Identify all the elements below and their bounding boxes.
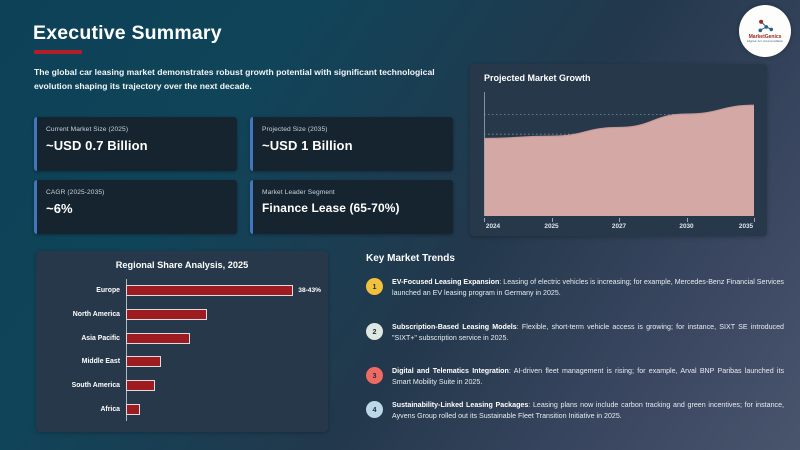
growth-area-plot <box>484 92 754 216</box>
trend-text: Sustainability-Linked Leasing Packages: … <box>392 400 784 422</box>
bar-fill <box>126 333 190 344</box>
trend-heading: EV-Focused Leasing Expansion <box>392 278 499 286</box>
x-axis-label: 2027 <box>612 223 626 230</box>
x-axis-tick <box>484 218 485 222</box>
x-axis-tick <box>754 218 755 222</box>
x-axis-label: 2030 <box>679 223 693 230</box>
bar-fill <box>126 404 140 415</box>
kpi-value: ~USD 1 Billion <box>262 138 353 153</box>
bar-fill <box>126 380 155 391</box>
trends-heading: Key Market Trends <box>366 253 455 264</box>
trend-text: EV-Focused Leasing Expansion: Leasing of… <box>392 277 784 299</box>
bar-category-label: South America <box>48 382 126 389</box>
projected-market-growth-chart: Projected Market Growth 2024202520272030… <box>470 64 767 236</box>
chart-title: Regional Share Analysis, 2025 <box>36 260 328 270</box>
trend-number-badge: 4 <box>366 401 383 418</box>
regional-share-chart: Regional Share Analysis, 2025 Europe38-4… <box>36 251 328 432</box>
trend-text: Digital and Telematics Integration: AI-d… <box>392 366 784 388</box>
kpi-value: Finance Lease (65-70%) <box>262 201 400 215</box>
trend-number-badge: 2 <box>366 323 383 340</box>
kpi-card-projected-size: Projected Size (2035) ~USD 1 Billion <box>250 117 453 171</box>
bar-chart-row: Asia Pacific <box>48 332 316 345</box>
bar-chart-row: North America <box>48 308 316 321</box>
bar-track <box>126 379 316 392</box>
bar-track <box>126 308 316 321</box>
bar-chart-row: South America <box>48 379 316 392</box>
bar-track <box>126 355 316 368</box>
bar-track <box>126 332 316 345</box>
logo-name: MarketGenics <box>749 35 782 40</box>
kpi-card-current-market-size: Current Market Size (2025) ~USD 0.7 Bill… <box>34 117 237 171</box>
bar-chart-rows: Europe38-43%North AmericaAsia PacificMid… <box>48 279 316 421</box>
bar-fill <box>126 285 293 296</box>
kpi-label: CAGR (2025-2035) <box>46 189 104 196</box>
kpi-label: Current Market Size (2025) <box>46 126 128 133</box>
trend-heading: Sustainability-Linked Leasing Packages <box>392 401 528 409</box>
bar-chart-row: Europe38-43% <box>48 284 316 297</box>
kpi-label: Projected Size (2035) <box>262 126 328 133</box>
bar-fill <box>126 309 207 320</box>
title-underline-accent <box>34 50 82 54</box>
kpi-label: Market Leader Segment <box>262 189 335 196</box>
page-title: Executive Summary <box>33 22 222 45</box>
bar-fill <box>126 356 161 367</box>
trend-heading: Digital and Telematics Integration <box>392 367 509 375</box>
growth-x-axis: 20242025202720302035 <box>484 218 754 231</box>
trend-number-badge: 3 <box>366 367 383 384</box>
trend-heading: Subscription-Based Leasing Models <box>392 323 517 331</box>
x-axis-label: 2035 <box>739 223 753 230</box>
bar-category-label: Asia Pacific <box>48 335 126 342</box>
bar-value-label: 38-43% <box>298 287 321 294</box>
x-axis-tick <box>687 218 688 222</box>
bar-category-label: Europe <box>48 287 126 294</box>
bar-chart-row: Middle East <box>48 355 316 368</box>
trend-item[interactable]: 1EV-Focused Leasing Expansion: Leasing o… <box>366 277 784 299</box>
bar-category-label: Middle East <box>48 358 126 365</box>
slide-root: Executive Summary The global car leasing… <box>0 0 800 450</box>
bar-track: 38-43% <box>126 284 316 297</box>
chart-title: Projected Market Growth <box>484 73 591 83</box>
logo-tagline: Aligned. Act. Accommodation <box>747 41 783 44</box>
trend-item[interactable]: 3Digital and Telematics Integration: AI-… <box>366 366 784 388</box>
trend-number-badge: 1 <box>366 278 383 295</box>
kpi-card-cagr: CAGR (2025-2035) ~6% <box>34 180 237 234</box>
trend-item[interactable]: 4Sustainability-Linked Leasing Packages:… <box>366 400 784 422</box>
page-subtitle: The global car leasing market demonstrat… <box>34 66 444 94</box>
bar-category-label: Africa <box>48 406 126 413</box>
company-logo: MarketGenics Aligned. Act. Accommodation <box>739 5 791 57</box>
kpi-card-market-leader-segment: Market Leader Segment Finance Lease (65-… <box>250 180 453 234</box>
bar-track <box>126 403 316 416</box>
bar-chart-row: Africa <box>48 403 316 416</box>
x-axis-tick <box>619 218 620 222</box>
trend-text: Subscription-Based Leasing Models: Flexi… <box>392 322 784 344</box>
x-axis-label: 2024 <box>486 223 500 230</box>
bar-category-label: North America <box>48 311 126 318</box>
trend-item[interactable]: 2Subscription-Based Leasing Models: Flex… <box>366 322 784 344</box>
x-axis-label: 2025 <box>544 223 558 230</box>
kpi-value: ~USD 0.7 Billion <box>46 138 148 153</box>
x-axis-tick <box>552 218 553 222</box>
kpi-value: ~6% <box>46 201 73 216</box>
network-node-icon <box>756 19 775 34</box>
